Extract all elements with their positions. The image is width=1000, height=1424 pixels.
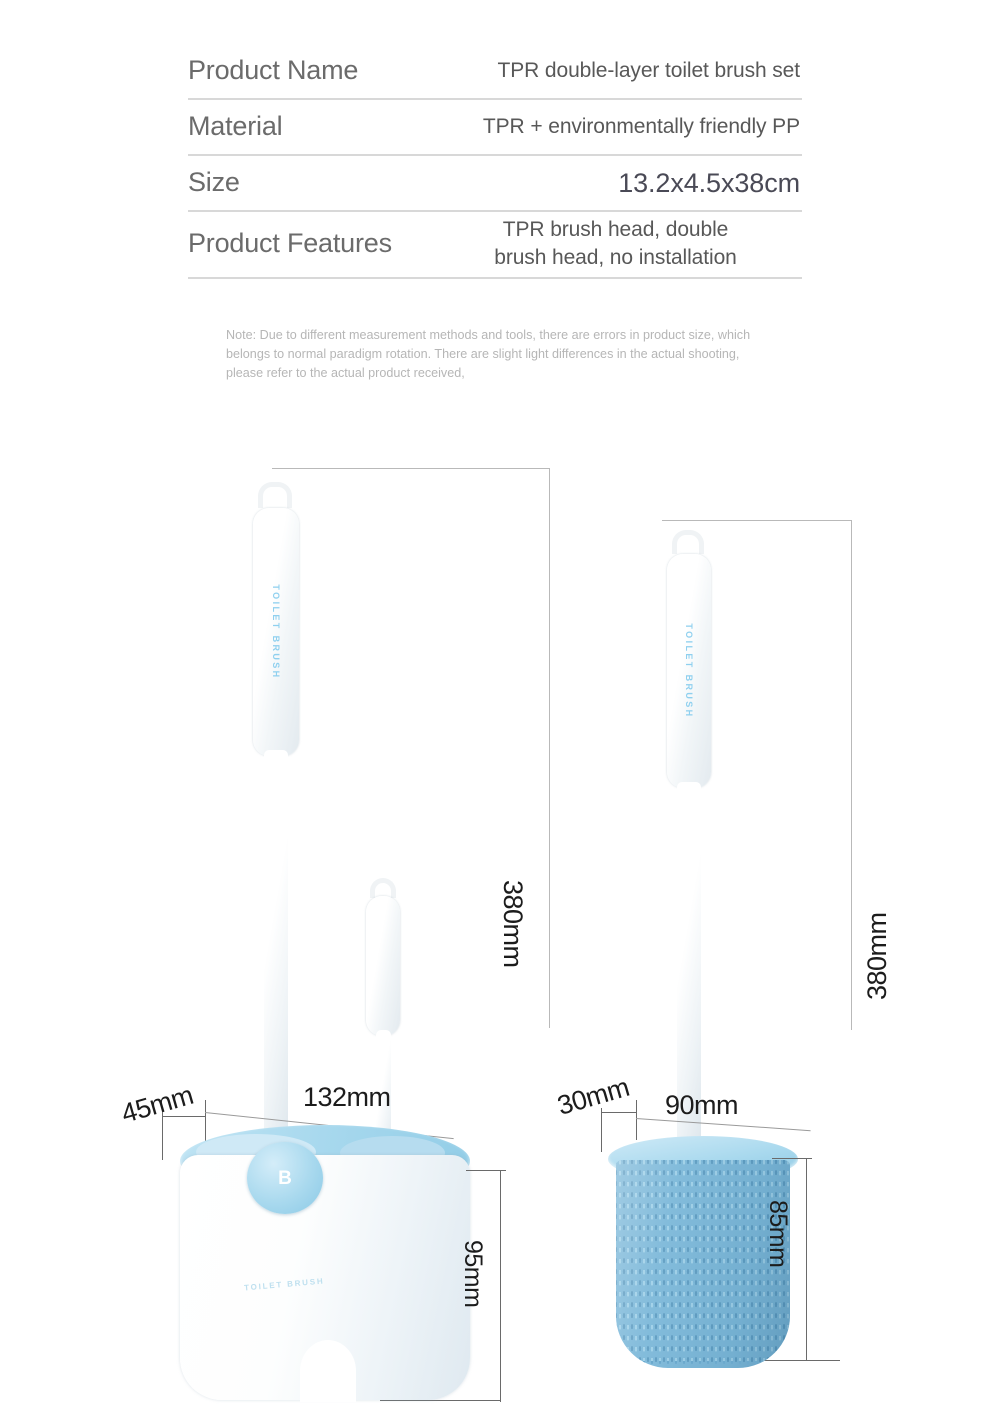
- badge-emblem-icon: B: [278, 1169, 292, 1188]
- table-row: Product Name TPR double-layer toilet bru…: [188, 44, 802, 100]
- bristle-fringe: [616, 1361, 790, 1368]
- disclaimer-note: Note: Due to different measurement metho…: [226, 326, 766, 383]
- brush-handle-left: TOILET BRUSH: [253, 508, 299, 756]
- product-spec-table: Product Name TPR double-layer toilet bru…: [188, 44, 802, 279]
- hang-loop-icon-secondary: [370, 878, 396, 898]
- hang-loop-icon-right: [672, 530, 704, 554]
- spec-value-product-name: TPR double-layer toilet brush set: [433, 57, 802, 85]
- dim-tick-head-top: [772, 1158, 812, 1159]
- dim-tick-depth-right-b: [636, 1100, 637, 1140]
- dim-label-width-right: 90mm: [665, 1090, 738, 1121]
- table-row: Size 13.2x4.5x38cm: [188, 156, 802, 212]
- dim-tick-depth-left-a: [162, 1112, 163, 1160]
- dim-label-depth-right: 30mm: [554, 1072, 633, 1122]
- dim-extension-top-left: [272, 468, 550, 469]
- dim-tick-holder-top: [466, 1170, 506, 1171]
- dim-label-height-right: 380mm: [862, 912, 893, 1000]
- holder-badge: B: [247, 1142, 323, 1214]
- dim-line-holder-height: [500, 1170, 501, 1402]
- dim-label-height-left: 380mm: [497, 880, 528, 968]
- dim-line-height-left: [549, 468, 550, 1028]
- dim-line-depth-right: [601, 1112, 637, 1113]
- dim-label-holder-height: 95mm: [458, 1240, 487, 1307]
- dim-line-head-height: [806, 1158, 807, 1360]
- table-row: Material TPR + environmentally friendly …: [188, 100, 802, 156]
- dim-tick-depth-right-a: [601, 1108, 602, 1152]
- hang-loop-icon-left: [258, 482, 292, 508]
- dim-label-width-left: 132mm: [303, 1082, 391, 1113]
- handle-brand-text-right: TOILET BRUSH: [684, 623, 694, 718]
- dim-extension-top-right: [662, 520, 852, 521]
- handle-brand-text-left: TOILET BRUSH: [271, 584, 281, 679]
- secondary-brush-handle: [366, 896, 400, 1036]
- dim-label-depth-left: 45mm: [118, 1080, 197, 1130]
- product-illustration: 380mm TOILET BRUSH 45mm 132mm B TOILET B…: [0, 400, 1000, 1424]
- table-row: Product Features TPR brush head, double …: [188, 212, 802, 279]
- brush-rod-left: [264, 750, 288, 1160]
- dim-line-depth-left: [162, 1116, 206, 1117]
- dim-extension-bottom-left: [380, 1400, 500, 1401]
- spec-label-product-name: Product Name: [188, 54, 433, 88]
- spec-label-material: Material: [188, 110, 433, 144]
- spec-label-product-features: Product Features: [188, 227, 433, 261]
- dim-line-height-right: [851, 520, 852, 1030]
- spec-label-size: Size: [188, 166, 433, 200]
- brush-handle-right: TOILET BRUSH: [667, 554, 711, 788]
- spec-value-size: 13.2x4.5x38cm: [433, 165, 802, 201]
- spec-value-product-features: TPR brush head, double brush head, no in…: [433, 216, 802, 273]
- spec-value-material: TPR + environmentally friendly PP: [433, 113, 802, 141]
- holder-base-notch: [300, 1340, 356, 1402]
- dim-label-head-height: 85mm: [763, 1200, 792, 1267]
